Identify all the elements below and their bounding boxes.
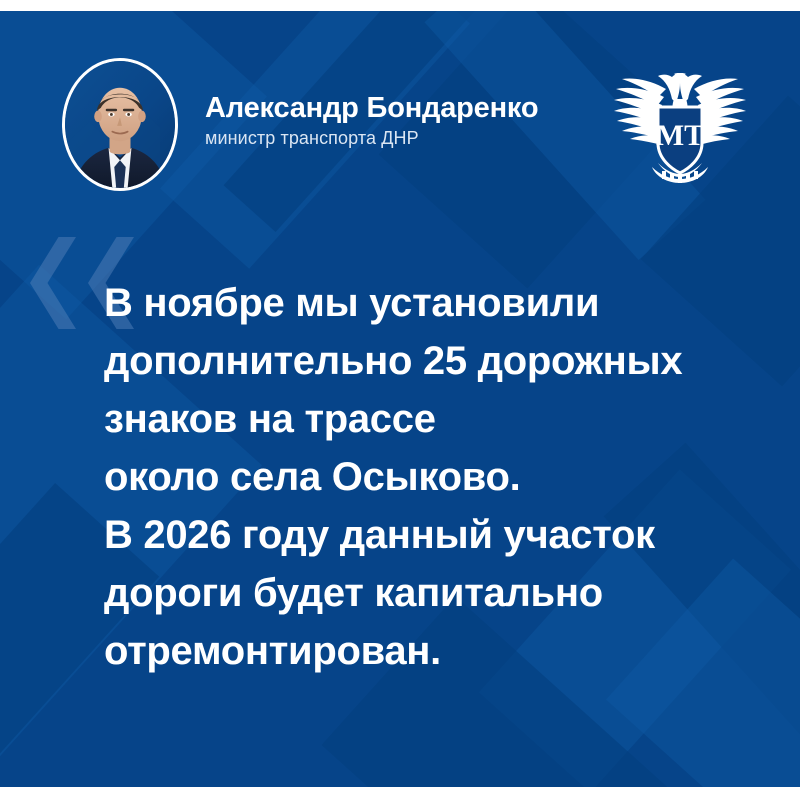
quote-line: дороги будет капитально	[104, 564, 794, 622]
quote-card: Александр Бондаренко министр транспорта …	[0, 0, 800, 800]
card-header: Александр Бондаренко министр транспорта …	[0, 11, 800, 211]
speaker-name: Александр Бондаренко	[205, 93, 538, 123]
quote-text: В ноябре мы установили дополнительно 25 …	[104, 274, 794, 680]
quote-line: дополнительно 25 дорожных	[104, 332, 794, 390]
portrait-photo-icon	[65, 61, 175, 188]
quote-line: В 2026 году данный участок	[104, 506, 794, 564]
speaker-role: министр транспорта ДНР	[205, 129, 538, 149]
emblem-monogram: МТ	[656, 119, 704, 152]
quote-line: В ноябре мы установили	[104, 274, 794, 332]
avatar	[62, 58, 178, 191]
quote-line: около села Осыково.	[104, 448, 794, 506]
chevron-shape	[30, 237, 76, 329]
double-headed-eagle-emblem-icon: МТ	[600, 59, 760, 189]
speaker-identity: Александр Бондаренко министр транспорта …	[205, 93, 538, 149]
card-canvas: Александр Бондаренко министр транспорта …	[0, 11, 800, 787]
quote-line: знаков на трассе	[104, 390, 794, 448]
quote-line: отремонтирован.	[104, 622, 794, 680]
